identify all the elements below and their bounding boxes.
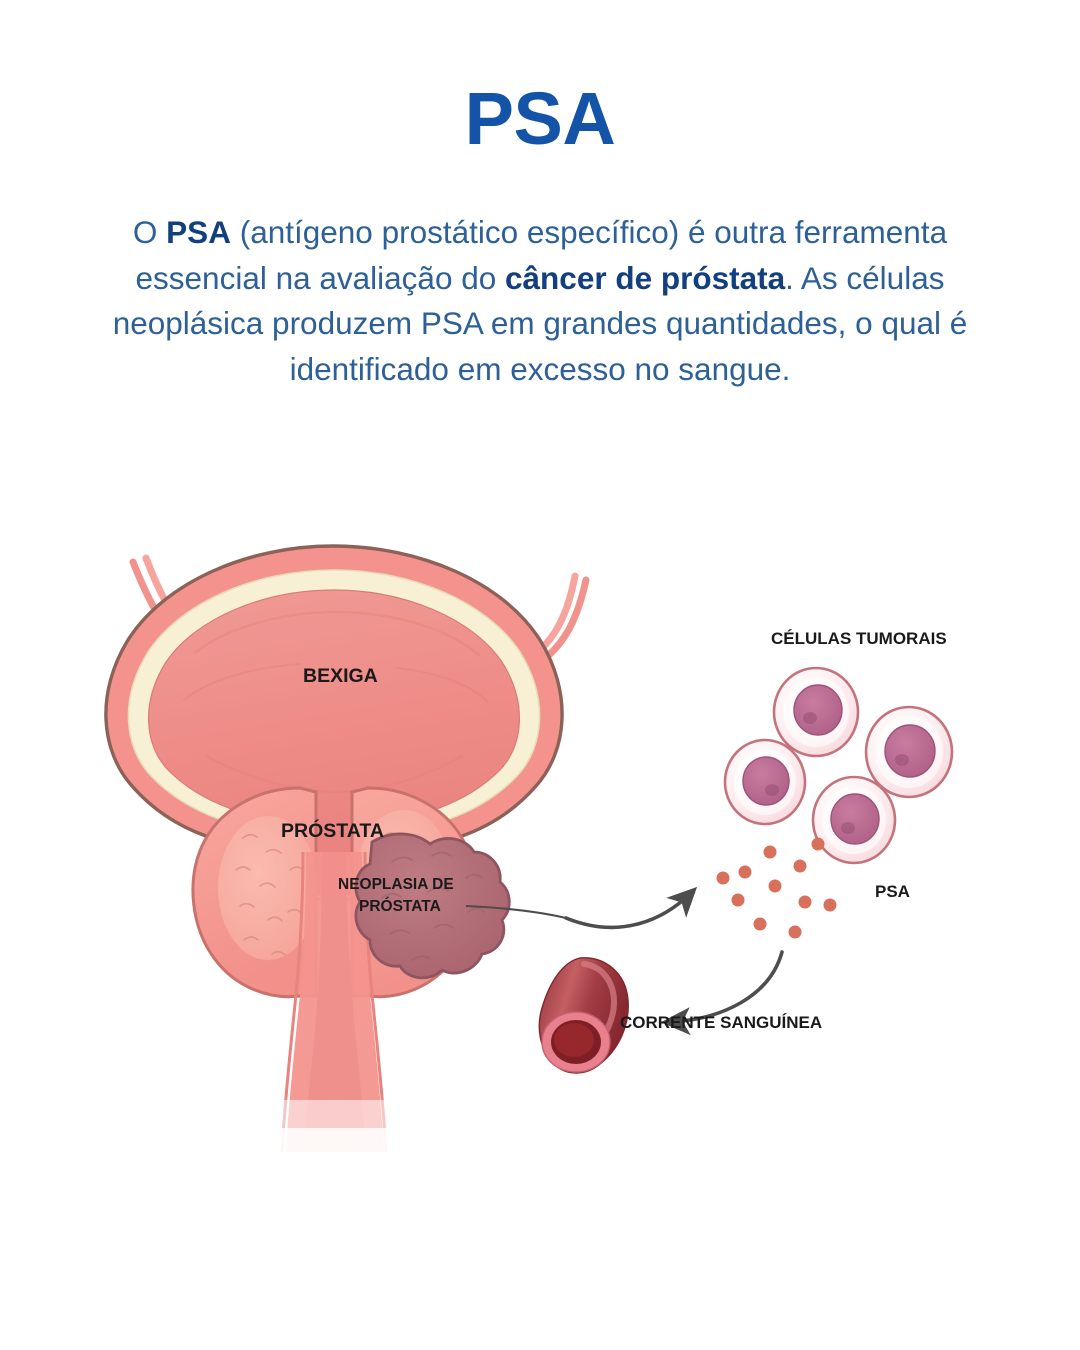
psa-dot	[824, 899, 837, 912]
intro-line2-pre: essencial na avaliação do	[136, 260, 506, 296]
intro-paragraph: O PSA (antígeno prostático específico) é…	[90, 210, 990, 393]
arrow-psa-to-bloodstream	[668, 952, 782, 1022]
psa-dot	[732, 894, 745, 907]
anatomy-illustration: BEXIGA PRÓSTATA NEOPLASIA DE PRÓSTATA CÉ…	[0, 400, 1080, 1160]
tumor-cell	[866, 707, 952, 797]
label-bloodstream: CORRENTE SANGUÍNEA	[620, 1013, 822, 1032]
psa-dot	[739, 866, 752, 879]
tumor-cells-group	[725, 668, 952, 863]
intro-line1-pre: O	[133, 214, 166, 250]
intro-line2-post: . As células	[785, 260, 944, 296]
psa-dot	[769, 880, 782, 893]
tumor-cell	[774, 668, 858, 756]
intro-line1-post: (antígeno prostático específico) é outra…	[231, 214, 947, 250]
page-title: PSA	[0, 82, 1080, 156]
label-neoplasia-line2: PRÓSTATA	[359, 897, 441, 915]
intro-bold-cancer: câncer de próstata	[505, 260, 785, 296]
intro-line3: neoplásica produzem PSA em grandes quant…	[113, 305, 941, 341]
bladder-prostate-group	[106, 546, 586, 1160]
arrow-tumor-to-cells	[566, 892, 692, 927]
label-prostate: PRÓSTATA	[281, 818, 384, 842]
psa-dot	[799, 896, 812, 909]
psa-dot	[764, 846, 777, 859]
tumor-cell	[725, 740, 805, 824]
psa-molecules-group	[717, 838, 837, 939]
label-psa: PSA	[875, 882, 910, 901]
psa-dot	[754, 918, 767, 931]
label-bladder: BEXIGA	[303, 665, 378, 687]
blood-vessel-icon	[539, 958, 628, 1073]
label-tumor-cells: CÉLULAS TUMORAIS	[771, 629, 947, 648]
psa-dot	[789, 926, 802, 939]
intro-bold-psa: PSA	[166, 214, 231, 250]
psa-dot	[794, 860, 807, 873]
urethra-fade-2	[265, 1128, 410, 1160]
tumor-cell	[813, 777, 895, 863]
infographic-page: PSA O PSA (antígeno prostático específic…	[0, 0, 1080, 1350]
psa-dot	[812, 838, 825, 851]
psa-dot	[717, 872, 730, 885]
label-neoplasia-line1: NEOPLASIA DE	[338, 876, 454, 893]
